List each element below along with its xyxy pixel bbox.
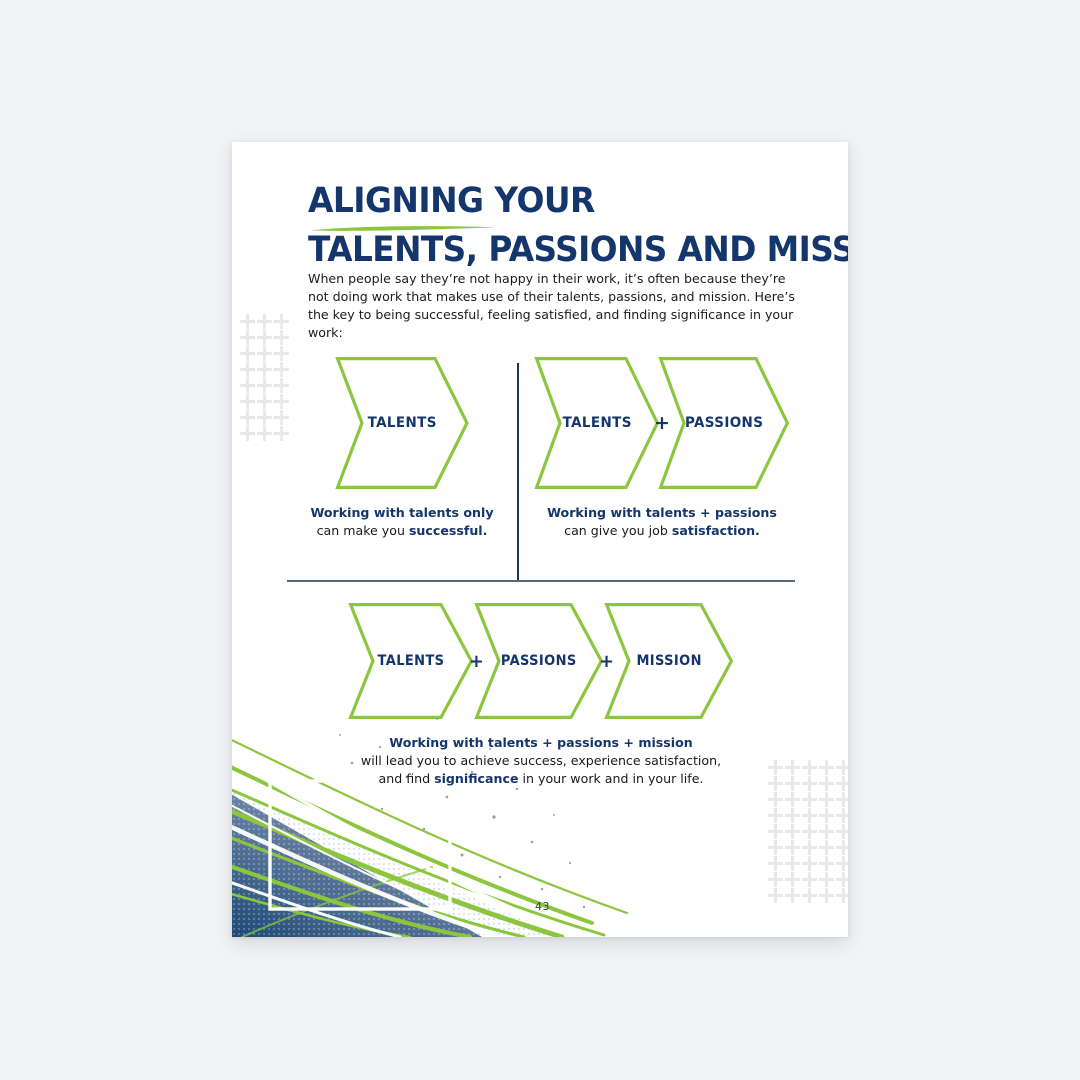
plus-mark-icon [768, 872, 783, 887]
plus-pattern-decoration-left [240, 314, 286, 442]
plus-mark-icon [785, 808, 800, 823]
intro-paragraph: When people say they’re not happy in the… [308, 270, 802, 342]
chevron-passions: PASSIONS [474, 602, 604, 720]
plus-separator-icon: + [654, 412, 670, 434]
caption-line-3-prefix: and find [379, 771, 435, 786]
plus-mark-icon [819, 824, 834, 839]
page-title-line-1: ALIGNING YOUR [308, 184, 797, 219]
chevron-mission: MISSION [604, 602, 734, 720]
plus-mark-icon [257, 394, 272, 409]
caption-line-2-prefix: can make you [317, 523, 409, 538]
plus-mark-icon [768, 792, 783, 807]
plus-mark-icon [257, 426, 272, 441]
plus-mark-icon [768, 856, 783, 871]
caption-all: Working with talents + passions + missio… [287, 734, 795, 788]
chevron-row: TALENTS + PASSIONS + MISSION [287, 602, 795, 720]
chevron-passions: PASSIONS [658, 356, 790, 490]
plus-mark-icon [819, 856, 834, 871]
chevron-label: PASSIONS [501, 653, 577, 669]
plus-mark-icon [836, 888, 848, 903]
chevron-talents: TALENTS [335, 356, 470, 490]
caption-line-2-bold: satisfaction. [672, 523, 760, 538]
chevron-row: TALENTS + PASSIONS [528, 356, 796, 490]
plus-mark-icon [802, 872, 817, 887]
caption-line-2: will lead you to achieve success, experi… [361, 753, 721, 768]
plus-separator-icon: + [599, 651, 614, 672]
plus-mark-icon [785, 824, 800, 839]
plus-mark-icon [274, 314, 289, 329]
plus-mark-icon [802, 824, 817, 839]
plus-mark-icon [257, 410, 272, 425]
plus-mark-icon [257, 330, 272, 345]
plus-separator-icon: + [469, 651, 484, 672]
chevron-talents: TALENTS [534, 356, 660, 490]
plus-mark-icon [802, 808, 817, 823]
caption-line-1: Working with talents + passions [547, 505, 777, 520]
chevron-talents: TALENTS [348, 602, 474, 720]
caption-line-2-bold: successful. [409, 523, 487, 538]
page-title-line-2: TALENTS, PASSIONS AND MISSION [308, 233, 794, 268]
plus-mark-icon [785, 792, 800, 807]
plus-mark-icon [768, 824, 783, 839]
plus-mark-icon [768, 808, 783, 823]
plus-mark-icon [836, 856, 848, 871]
caption-line-1: Working with talents only [310, 505, 493, 520]
horizontal-divider [287, 580, 795, 582]
plus-mark-icon [785, 888, 800, 903]
plus-mark-icon [802, 888, 817, 903]
plus-mark-icon [802, 840, 817, 855]
plus-mark-icon [240, 346, 255, 361]
plus-mark-icon [240, 362, 255, 377]
plus-mark-icon [240, 394, 255, 409]
chevron-label: TALENTS [377, 653, 444, 669]
plus-mark-icon [819, 760, 834, 775]
chevron-row: TALENTS [287, 356, 517, 490]
page-title: ALIGNING YOUR TALENTS, PASSIONS AND MISS… [308, 184, 828, 268]
plus-mark-icon [819, 792, 834, 807]
plus-mark-icon [836, 776, 848, 791]
plus-mark-icon [836, 872, 848, 887]
plus-mark-icon [768, 840, 783, 855]
page-number: 43 [535, 900, 550, 913]
chevron-label: TALENTS [562, 415, 631, 431]
diagram-group-talents-passions: TALENTS + PASSIONS Working with talents … [528, 356, 796, 540]
plus-mark-icon [836, 760, 848, 775]
plus-mark-icon [836, 840, 848, 855]
plus-mark-icon [240, 378, 255, 393]
plus-mark-icon [819, 888, 834, 903]
diagram-group-all: TALENTS + PASSIONS + MISSION [287, 602, 795, 788]
caption-line-2-prefix: can give you job [564, 523, 672, 538]
caption-line-3-bold: significance [434, 771, 518, 786]
plus-mark-icon [802, 760, 817, 775]
plus-mark-icon [802, 792, 817, 807]
plus-mark-icon [240, 426, 255, 441]
plus-mark-icon [257, 378, 272, 393]
plus-mark-icon [802, 776, 817, 791]
plus-mark-icon [240, 314, 255, 329]
plus-mark-icon [274, 330, 289, 345]
vertical-divider [517, 363, 519, 581]
plus-mark-icon [802, 856, 817, 871]
caption-line-3-suffix: in your work and in your life. [519, 771, 704, 786]
plus-mark-icon [819, 840, 834, 855]
plus-mark-icon [819, 872, 834, 887]
diagram-group-talents: TALENTS Working with talents only can ma… [287, 356, 517, 540]
screenshot-canvas: ALIGNING YOUR TALENTS, PASSIONS AND MISS… [0, 0, 1080, 1080]
caption-line-1: Working with talents + passions + missio… [389, 735, 693, 750]
document-page: ALIGNING YOUR TALENTS, PASSIONS AND MISS… [232, 142, 848, 937]
chevron-label: TALENTS [367, 415, 436, 431]
caption-talents-passions: Working with talents + passions can give… [528, 504, 796, 540]
plus-mark-icon [836, 808, 848, 823]
caption-talents: Working with talents only can make you s… [287, 504, 517, 540]
plus-mark-icon [257, 314, 272, 329]
plus-mark-icon [240, 330, 255, 345]
plus-mark-icon [257, 362, 272, 377]
plus-mark-icon [785, 840, 800, 855]
plus-mark-icon [257, 346, 272, 361]
plus-mark-icon [819, 808, 834, 823]
plus-mark-icon [785, 872, 800, 887]
plus-mark-icon [836, 792, 848, 807]
plus-mark-icon [836, 824, 848, 839]
plus-mark-icon [240, 410, 255, 425]
chevron-label: MISSION [636, 653, 701, 669]
chevron-label: PASSIONS [685, 415, 763, 431]
plus-mark-icon [785, 856, 800, 871]
plus-mark-icon [768, 888, 783, 903]
plus-mark-icon [819, 776, 834, 791]
